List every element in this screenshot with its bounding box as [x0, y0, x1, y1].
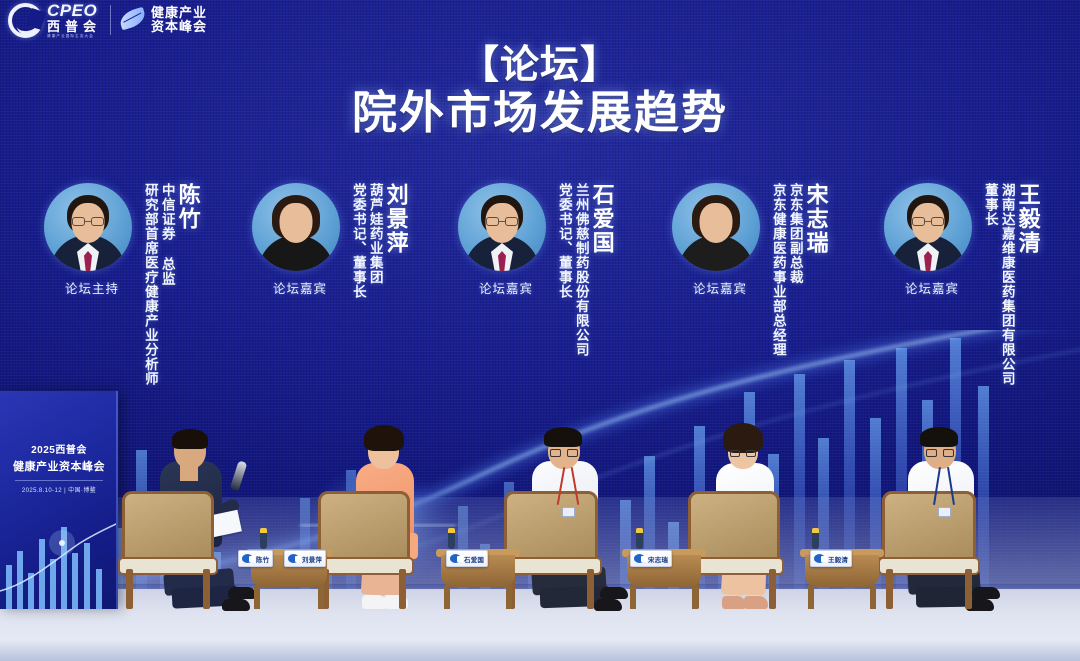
- plate-logo-icon: [288, 554, 299, 563]
- panelist-card: 论坛嘉宾 王毅清 湖南达嘉维康医药集团有限公司 董事长: [884, 183, 1042, 386]
- panelist-affiliation-line1: 兰州佛慈制药股份有限公司: [573, 183, 588, 357]
- armchair: [122, 489, 214, 609]
- forum-title-line2: 院外市场发展趋势: [0, 86, 1080, 139]
- panelist-role: 论坛嘉宾: [252, 278, 348, 297]
- cpeo-logo-en: CPEO: [47, 2, 101, 19]
- forum-title: 【论坛】 院外市场发展趋势: [0, 44, 1080, 139]
- cpeo-logo-sub: 健康产业国际生态大会: [47, 35, 101, 39]
- panelist-photo-shi-aiguo: [458, 183, 546, 271]
- plate-logo-icon: [634, 554, 645, 563]
- panelist-name: 石爱国: [590, 183, 613, 255]
- name-plate-label: 石爱国: [464, 554, 484, 564]
- panelist-name: 刘景萍: [384, 183, 407, 255]
- name-plate: 石爱国: [446, 550, 488, 567]
- panelist-photo-song-zhirui: [672, 183, 760, 271]
- forum-title-line1: 【论坛】: [0, 44, 1080, 88]
- panel-stage-scene: 陈竹 刘景萍 石爱国 宋志瑞 王毅清: [0, 411, 1080, 661]
- panelist-affiliation-line1: 湖南达嘉维康医药集团有限公司: [999, 183, 1014, 386]
- armchair: [882, 489, 976, 609]
- microphone-icon: [230, 460, 248, 491]
- panelist-card: 论坛嘉宾 刘景萍 葫芦娃药业集团 党委书记、董事长: [252, 183, 410, 299]
- water-bottle: [260, 528, 267, 549]
- summit-logo-line2: 资本峰会: [151, 20, 207, 34]
- cpeo-ring-icon: [8, 3, 43, 38]
- panelist-photo-chen-zhu: [44, 183, 132, 271]
- name-plate: 刘景萍: [284, 550, 326, 567]
- panelist-affiliation-line1: 京东集团副总裁: [787, 183, 802, 285]
- leaf-mark-icon: [118, 7, 149, 33]
- panelist-affiliation-line1: 葫芦娃药业集团: [367, 183, 382, 285]
- panelist-affiliation-line1: 中信证券 总监: [159, 183, 174, 286]
- panelist-card: 论坛主持 陈竹 中信证券 总监 研究部首席医疗健康产业分析师: [44, 183, 202, 386]
- plate-logo-icon: [242, 554, 253, 563]
- panelist-role: 论坛嘉宾: [884, 278, 980, 297]
- panelist-name: 宋志瑞: [804, 183, 827, 255]
- led-stage-screen: CPEO 西普会 健康产业国际生态大会 健康产业 资本峰会 【论坛】 院外市场发…: [0, 0, 1080, 661]
- panelist-affiliation-line2: 董事长: [982, 183, 997, 227]
- panelist-card: 论坛嘉宾 宋志瑞 京东集团副总裁 京东健康医药事业部总经理: [672, 183, 830, 357]
- panelist-list: 论坛主持 陈竹 中信证券 总监 研究部首席医疗健康产业分析师 论坛嘉宾 刘景萍 …: [0, 183, 1080, 433]
- plate-logo-icon: [450, 554, 461, 563]
- water-bottle: [636, 528, 643, 549]
- name-plate-label: 王毅清: [828, 554, 848, 564]
- cpeo-logo-cn: 西普会: [47, 20, 101, 33]
- panelist-role: 论坛嘉宾: [458, 278, 554, 297]
- panelist-role: 论坛嘉宾: [672, 278, 768, 297]
- water-bottle: [812, 528, 819, 549]
- name-plate: 王毅清: [810, 550, 852, 567]
- name-plate: 宋志瑞: [630, 550, 672, 567]
- name-plate-label: 刘景萍: [302, 554, 322, 564]
- panelist-affiliation-line2: 研究部首席医疗健康产业分析师: [142, 183, 157, 386]
- logo-divider: [110, 5, 111, 35]
- panelist-affiliation-line2: 党委书记、董事长: [556, 183, 571, 299]
- panelist-affiliation-line2: 党委书记、董事长: [350, 183, 365, 299]
- health-capital-summit-logo: 健康产业 资本峰会: [120, 6, 207, 34]
- panelist-name: 王毅清: [1016, 183, 1039, 255]
- cpeo-logo: CPEO 西普会 健康产业国际生态大会: [8, 2, 101, 39]
- plate-logo-icon: [814, 554, 825, 563]
- panelist-card: 论坛嘉宾 石爱国 兰州佛慈制药股份有限公司 党委书记、董事长: [458, 183, 616, 357]
- summit-logo-line1: 健康产业: [151, 6, 207, 20]
- panelist-affiliation-line2: 京东健康医药事业部总经理: [770, 183, 785, 357]
- name-plate-label: 宋志瑞: [648, 554, 668, 564]
- water-bottle: [448, 528, 455, 549]
- name-plate: 陈竹: [238, 550, 273, 567]
- header-logo-bar: CPEO 西普会 健康产业国际生态大会 健康产业 资本峰会: [8, 2, 207, 39]
- panelist-photo-wang-yiqing: [884, 183, 972, 271]
- panelist-name: 陈竹: [176, 183, 199, 231]
- name-plate-label: 陈竹: [256, 554, 269, 564]
- panelist-photo-liu-jingping: [252, 183, 340, 271]
- panelist-role: 论坛主持: [44, 278, 140, 297]
